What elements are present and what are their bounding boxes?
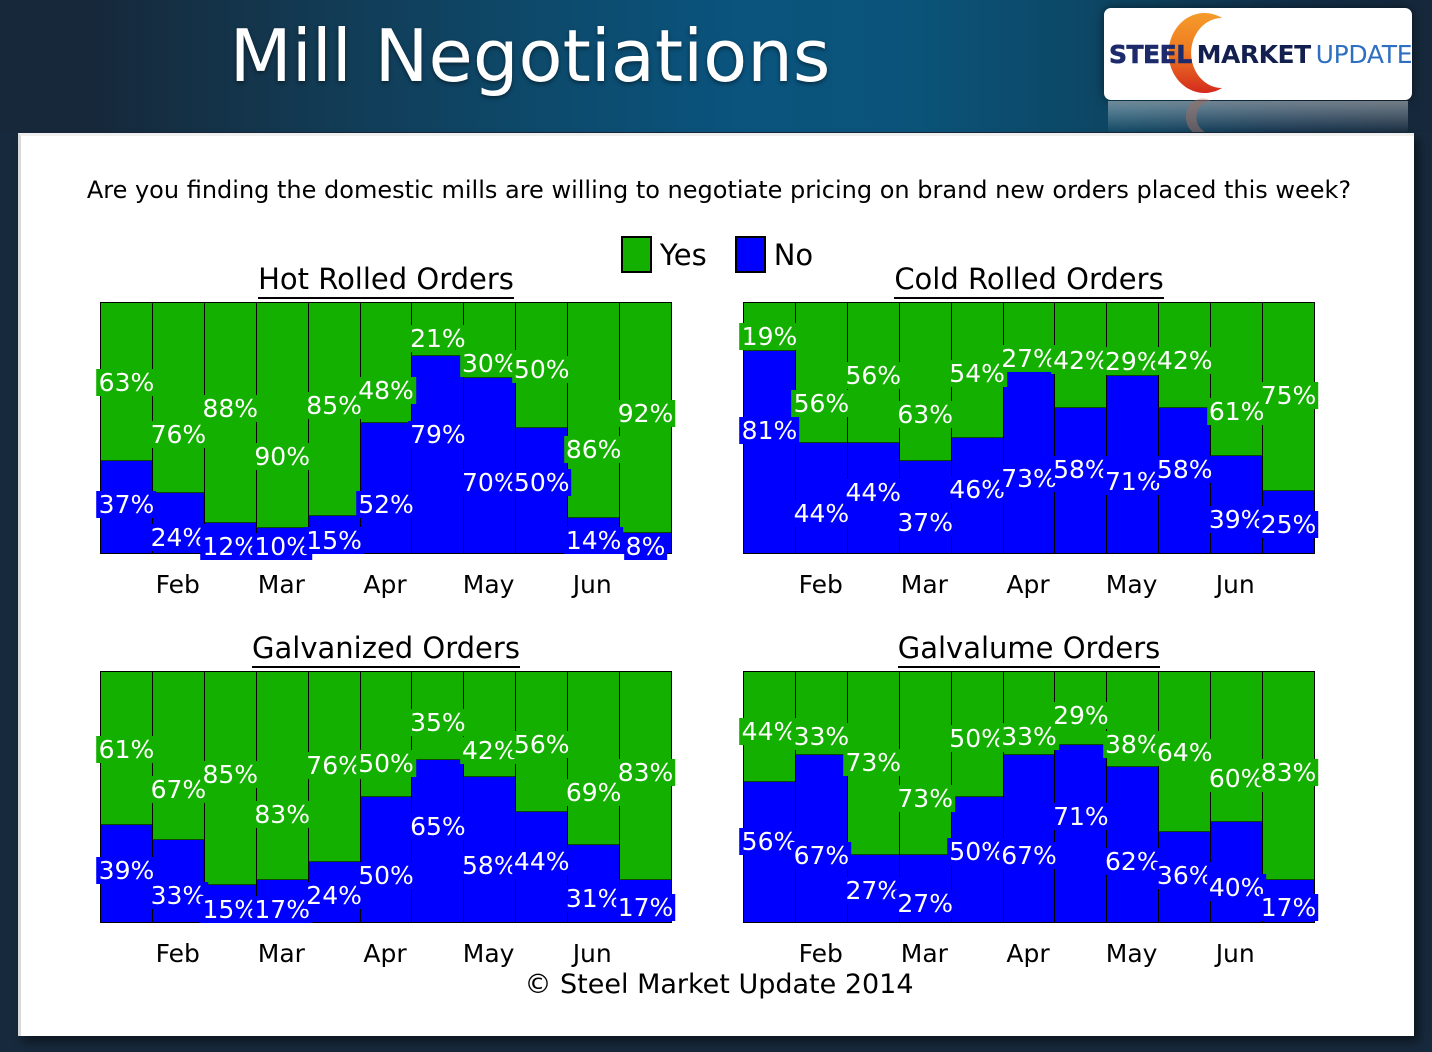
bar-value-label-no: 46% bbox=[947, 476, 1007, 503]
bar-column[interactable]: 64%36% bbox=[1159, 672, 1211, 922]
bar-value-label-yes: 64% bbox=[1155, 739, 1215, 766]
bar-value-label-yes: 56% bbox=[792, 390, 852, 417]
bar-segment-yes[interactable]: 90% bbox=[257, 303, 308, 528]
bar-value-label-no: 40% bbox=[1207, 874, 1267, 901]
x-axis-tick bbox=[515, 939, 567, 968]
bar-value-label-yes: 29% bbox=[1103, 348, 1163, 375]
bar-column[interactable]: 27%73% bbox=[1004, 303, 1056, 553]
bar-value-label-no: 56% bbox=[740, 828, 800, 855]
x-axis-tick bbox=[411, 570, 463, 599]
bar-segment-yes[interactable]: 83% bbox=[1263, 672, 1314, 880]
x-axis-tick bbox=[411, 939, 463, 968]
bar-value-label-yes: 56% bbox=[843, 362, 903, 389]
x-axis-tick: May bbox=[463, 570, 515, 599]
x-axis-tick bbox=[1158, 570, 1210, 599]
bar-value-label-no: 37% bbox=[97, 491, 157, 518]
x-axis-tick: Jun bbox=[566, 939, 618, 968]
bar-value-label-yes: 33% bbox=[792, 723, 852, 750]
bar-value-label-yes: 50% bbox=[356, 750, 416, 777]
bar-column[interactable]: 33%67% bbox=[796, 672, 848, 922]
bar-segment-yes[interactable]: 38% bbox=[1107, 672, 1158, 767]
bar-column[interactable]: 50%50% bbox=[516, 303, 568, 553]
bar-column[interactable]: 44%56% bbox=[744, 672, 796, 922]
bar-value-label-no: 50% bbox=[512, 469, 572, 496]
bar-segment-no[interactable]: 79% bbox=[412, 356, 463, 554]
bar-segment-yes[interactable]: 29% bbox=[1107, 303, 1158, 376]
bar-segment-no[interactable]: 8% bbox=[620, 533, 671, 553]
bar-segment-yes[interactable]: 42% bbox=[1055, 303, 1106, 408]
bar-segment-yes[interactable]: 61% bbox=[101, 672, 152, 825]
x-axis-tick: Mar bbox=[255, 939, 307, 968]
x-axis-tick: Jun bbox=[1209, 570, 1261, 599]
bar-segment-no[interactable]: 24% bbox=[309, 862, 360, 922]
bar-column[interactable]: 19%81% bbox=[744, 303, 796, 553]
bar-column[interactable]: 63%37% bbox=[900, 303, 952, 553]
x-axis-tick bbox=[515, 570, 567, 599]
bar-segment-no[interactable]: 14% bbox=[568, 518, 619, 553]
bar-value-label-no: 79% bbox=[408, 421, 468, 448]
bar-segment-no[interactable]: 65% bbox=[412, 760, 463, 923]
bar-value-label-yes: 42% bbox=[1051, 347, 1111, 374]
plot-area: 44%56%33%67%73%27%73%27%50%50%33%67%29%7… bbox=[743, 671, 1315, 923]
bar-segment-yes[interactable]: 35% bbox=[412, 672, 463, 760]
bar-column[interactable]: 33%67% bbox=[1004, 672, 1056, 922]
bar-value-label-yes: 85% bbox=[200, 761, 260, 788]
x-axis-tick: Feb bbox=[795, 570, 847, 599]
x-axis-tick bbox=[307, 570, 359, 599]
bar-value-label-yes: 60% bbox=[1207, 765, 1267, 792]
x-axis-tick: Feb bbox=[152, 939, 204, 968]
bar-segment-yes[interactable]: 42% bbox=[464, 672, 515, 777]
bar-segment-no[interactable]: 58% bbox=[1055, 408, 1106, 553]
bar-segment-no[interactable]: 58% bbox=[1159, 408, 1210, 553]
bar-segment-no[interactable]: 17% bbox=[257, 880, 308, 923]
chart-title: Hot Rolled Orders bbox=[66, 262, 706, 296]
bar-value-label-yes: 63% bbox=[895, 401, 955, 428]
x-axis-tick bbox=[204, 570, 256, 599]
bar-segment-no[interactable]: 73% bbox=[1004, 371, 1055, 554]
bar-column[interactable]: 61%39% bbox=[1211, 303, 1263, 553]
bar-column[interactable]: 50%50% bbox=[952, 672, 1004, 922]
page-title: Mill Negotiations bbox=[0, 14, 1060, 98]
bar-value-label-yes: 44% bbox=[740, 718, 800, 745]
bar-column[interactable]: 50%50% bbox=[361, 672, 413, 922]
slide-header: Mill Negotiations STEEL MARKET UPDATE bbox=[0, 0, 1432, 132]
x-axis-tick bbox=[950, 939, 1002, 968]
bar-value-label-yes: 50% bbox=[947, 725, 1007, 752]
bar-value-label-yes: 63% bbox=[97, 369, 157, 396]
bar-segment-yes[interactable]: 19% bbox=[744, 303, 795, 351]
bar-value-label-no: 15% bbox=[304, 527, 364, 554]
bar-value-label-yes: 19% bbox=[740, 323, 800, 350]
bar-column[interactable]: 56%44% bbox=[796, 303, 848, 553]
bar-value-label-no: 24% bbox=[304, 882, 364, 909]
bar-segment-yes[interactable]: 83% bbox=[257, 672, 308, 880]
bar-value-label-no: 25% bbox=[1259, 511, 1319, 538]
bar-segment-no[interactable]: 44% bbox=[796, 443, 847, 553]
x-axis-tick: May bbox=[1106, 570, 1158, 599]
bar-segment-yes[interactable]: 92% bbox=[620, 303, 671, 533]
survey-question: Are you finding the domestic mills are w… bbox=[21, 176, 1417, 204]
chart-galvalume-orders: Galvalume Orders 44%56%33%67%73%27%73%27… bbox=[709, 631, 1349, 951]
bar-segment-no[interactable]: 33% bbox=[153, 840, 204, 923]
bar-segment-yes[interactable]: 63% bbox=[101, 303, 152, 461]
bar-segment-yes[interactable]: 85% bbox=[205, 672, 256, 885]
x-axis-tick bbox=[743, 939, 795, 968]
logo-reflection bbox=[1108, 101, 1408, 132]
bar-segment-no[interactable]: 81% bbox=[744, 351, 795, 554]
bar-column[interactable]: 29%71% bbox=[1055, 672, 1107, 922]
bar-segment-no[interactable]: 15% bbox=[205, 885, 256, 923]
bar-column[interactable]: 76%24% bbox=[153, 303, 205, 553]
bar-segment-yes[interactable]: 21% bbox=[412, 303, 463, 356]
bar-value-label-no: 15% bbox=[200, 896, 260, 923]
bar-value-label-yes: 61% bbox=[97, 736, 157, 763]
bar-segment-no[interactable]: 62% bbox=[1107, 767, 1158, 922]
bar-segment-no[interactable]: 27% bbox=[900, 855, 951, 923]
bar-segment-yes[interactable]: 56% bbox=[848, 303, 899, 443]
bar-value-label-yes: 50% bbox=[512, 356, 572, 383]
x-axis-tick bbox=[307, 939, 359, 968]
bar-segment-yes[interactable]: 42% bbox=[1159, 303, 1210, 408]
bar-value-label-no: 27% bbox=[895, 890, 955, 917]
x-axis: FebMarAprMayJun bbox=[743, 570, 1313, 599]
bar-segment-no[interactable]: 44% bbox=[516, 812, 567, 922]
bar-segment-yes[interactable]: 75% bbox=[1263, 303, 1314, 491]
bar-column[interactable]: 69%31% bbox=[568, 672, 620, 922]
bar-segment-yes[interactable]: 61% bbox=[1211, 303, 1262, 456]
bar-value-label-no: 17% bbox=[1259, 894, 1319, 921]
slide-body: Are you finding the domestic mills are w… bbox=[18, 133, 1414, 1036]
bar-segment-yes[interactable]: 27% bbox=[1004, 303, 1055, 371]
bar-segment-yes[interactable]: 33% bbox=[1004, 672, 1055, 755]
bar-segment-yes[interactable]: 56% bbox=[796, 303, 847, 443]
x-axis-tick bbox=[1054, 939, 1106, 968]
x-axis-tick bbox=[100, 939, 152, 968]
bar-value-label-no: 44% bbox=[512, 848, 572, 875]
bar-column[interactable]: 56%44% bbox=[516, 672, 568, 922]
x-axis-tick: Jun bbox=[566, 570, 618, 599]
bar-value-label-no: 17% bbox=[616, 894, 676, 921]
bar-column[interactable]: 42%58% bbox=[464, 672, 516, 922]
brand-logo[interactable]: STEEL MARKET UPDATE bbox=[1104, 8, 1412, 132]
x-axis-tick bbox=[847, 939, 899, 968]
bar-segment-yes[interactable]: 33% bbox=[796, 672, 847, 755]
bar-value-label-yes: 92% bbox=[616, 400, 676, 427]
bar-value-label-no: 39% bbox=[1207, 506, 1267, 533]
bar-column[interactable]: 38%62% bbox=[1107, 672, 1159, 922]
bar-column[interactable]: 73%27% bbox=[900, 672, 952, 922]
bar-column[interactable]: 35%65% bbox=[412, 672, 464, 922]
x-axis-tick: Jun bbox=[1209, 939, 1261, 968]
bar-value-label-no: 8% bbox=[624, 533, 668, 560]
bar-value-label-no: 33% bbox=[149, 882, 209, 909]
logo-card: STEEL MARKET UPDATE bbox=[1104, 8, 1412, 100]
bar-segment-no[interactable]: 15% bbox=[309, 516, 360, 554]
bar-column[interactable]: 92%8% bbox=[620, 303, 671, 553]
bar-value-label-yes: 33% bbox=[999, 723, 1059, 750]
bar-column[interactable]: 73%27% bbox=[848, 672, 900, 922]
bar-value-label-yes: 42% bbox=[460, 737, 520, 764]
bar-value-label-no: 52% bbox=[356, 491, 416, 518]
bar-value-label-no: 58% bbox=[1051, 456, 1111, 483]
x-axis-tick: May bbox=[1106, 939, 1158, 968]
logo-word-market: MARKET bbox=[1197, 40, 1311, 69]
x-axis-tick bbox=[204, 939, 256, 968]
logo-wordmark: STEEL MARKET UPDATE bbox=[1104, 8, 1412, 100]
bar-value-label-no: 58% bbox=[460, 852, 520, 879]
bar-value-label-no: 44% bbox=[843, 479, 903, 506]
bar-segment-no[interactable]: 44% bbox=[848, 443, 899, 553]
bar-segment-no[interactable]: 10% bbox=[257, 528, 308, 553]
bar-value-label-yes: 29% bbox=[1051, 702, 1111, 729]
bar-column[interactable]: 85%15% bbox=[309, 303, 361, 553]
x-axis-tick bbox=[847, 570, 899, 599]
plot-area: 61%39%67%33%85%15%83%17%76%24%50%50%35%6… bbox=[100, 671, 672, 923]
bar-column[interactable]: 42%58% bbox=[1055, 303, 1107, 553]
bar-segment-yes[interactable]: 29% bbox=[1055, 672, 1106, 745]
x-axis-tick: Apr bbox=[1002, 570, 1054, 599]
x-axis-tick bbox=[743, 570, 795, 599]
bar-value-label-yes: 73% bbox=[895, 785, 955, 812]
x-axis-tick: Apr bbox=[359, 570, 411, 599]
bar-segment-yes[interactable]: 85% bbox=[309, 303, 360, 516]
bar-column[interactable]: 56%44% bbox=[848, 303, 900, 553]
bar-segment-yes[interactable]: 50% bbox=[361, 672, 412, 797]
bar-value-label-yes: 54% bbox=[947, 360, 1007, 387]
plot-area: 63%37%76%24%88%12%90%10%85%15%48%52%21%7… bbox=[100, 302, 672, 554]
bar-value-label-yes: 69% bbox=[564, 779, 624, 806]
bar-column[interactable]: 83%17% bbox=[257, 672, 309, 922]
bar-segment-no[interactable]: 40% bbox=[1211, 822, 1262, 922]
bar-column[interactable]: 42%58% bbox=[1159, 303, 1211, 553]
bar-value-label-no: 71% bbox=[1103, 468, 1163, 495]
bar-value-label-yes: 67% bbox=[149, 776, 209, 803]
x-axis-tick: Apr bbox=[1002, 939, 1054, 968]
bar-segment-yes[interactable]: 88% bbox=[205, 303, 256, 523]
bar-segment-yes[interactable]: 64% bbox=[1159, 672, 1210, 832]
bar-column[interactable]: 67%33% bbox=[153, 672, 205, 922]
bar-value-label-yes: 83% bbox=[616, 759, 676, 786]
bar-value-label-no: 24% bbox=[149, 524, 209, 551]
x-axis: FebMarAprMayJun bbox=[100, 939, 670, 968]
bar-value-label-no: 44% bbox=[792, 500, 852, 527]
chart-galvanized-orders: Galvanized Orders 61%39%67%33%85%15%83%1… bbox=[66, 631, 706, 951]
bar-segment-yes[interactable]: 86% bbox=[568, 303, 619, 518]
x-axis-tick bbox=[1158, 939, 1210, 968]
logo-word-steel: STEEL bbox=[1109, 40, 1192, 69]
bar-segment-no[interactable]: 27% bbox=[848, 855, 899, 923]
bar-value-label-no: 58% bbox=[1155, 456, 1215, 483]
bar-segment-yes[interactable]: 67% bbox=[153, 672, 204, 840]
bar-segment-yes[interactable]: 50% bbox=[516, 303, 567, 428]
x-axis-tick: Mar bbox=[898, 570, 950, 599]
bar-value-label-no: 73% bbox=[999, 465, 1059, 492]
x-axis-tick: May bbox=[463, 939, 515, 968]
bar-value-label-yes: 38% bbox=[1103, 731, 1163, 758]
x-axis-tick bbox=[618, 939, 670, 968]
bar-value-label-no: 14% bbox=[564, 527, 624, 554]
x-axis-tick: Apr bbox=[359, 939, 411, 968]
bar-value-label-yes: 56% bbox=[512, 731, 572, 758]
x-axis: FebMarAprMayJun bbox=[743, 939, 1313, 968]
x-axis-tick bbox=[950, 570, 1002, 599]
bar-value-label-yes: 90% bbox=[252, 443, 312, 470]
bar-column[interactable]: 48%52% bbox=[361, 303, 413, 553]
bar-segment-yes[interactable]: 30% bbox=[464, 303, 515, 378]
bar-column[interactable]: 29%71% bbox=[1107, 303, 1159, 553]
copyright-footer: © Steel Market Update 2014 bbox=[21, 969, 1417, 1000]
bar-value-label-yes: 21% bbox=[408, 325, 468, 352]
bar-segment-no[interactable]: 39% bbox=[101, 825, 152, 923]
bar-column[interactable]: 21%79% bbox=[412, 303, 464, 553]
bar-segment-yes[interactable]: 54% bbox=[952, 303, 1003, 438]
bar-value-label-yes: 83% bbox=[1259, 759, 1319, 786]
bar-segment-no[interactable]: 71% bbox=[1055, 745, 1106, 923]
bar-value-label-yes: 48% bbox=[356, 377, 416, 404]
chart-hot-rolled-orders: Hot Rolled Orders 63%37%76%24%88%12%90%1… bbox=[66, 262, 706, 582]
bar-value-label-no: 37% bbox=[895, 509, 955, 536]
bar-value-label-no: 71% bbox=[1051, 803, 1111, 830]
chart-title: Galvalume Orders bbox=[709, 631, 1349, 665]
x-axis-tick bbox=[1054, 570, 1106, 599]
bar-segment-no[interactable]: 46% bbox=[952, 438, 1003, 553]
bar-segment-no[interactable]: 17% bbox=[620, 880, 671, 923]
bar-segment-no[interactable]: 36% bbox=[1159, 832, 1210, 922]
x-axis-tick: Feb bbox=[795, 939, 847, 968]
bar-segment-no[interactable]: 67% bbox=[1004, 755, 1055, 923]
bar-column[interactable]: 30%70% bbox=[464, 303, 516, 553]
bar-value-label-yes: 75% bbox=[1259, 382, 1319, 409]
bar-segment-yes[interactable]: 76% bbox=[309, 672, 360, 862]
bar-segment-no[interactable]: 17% bbox=[1263, 880, 1314, 923]
bar-column[interactable]: 83%17% bbox=[620, 672, 671, 922]
bar-value-label-no: 67% bbox=[999, 842, 1059, 869]
bar-value-label-yes: 27% bbox=[999, 345, 1059, 372]
x-axis-tick: Feb bbox=[152, 570, 204, 599]
logo-word-update: UPDATE bbox=[1316, 40, 1412, 69]
bar-column[interactable]: 76%24% bbox=[309, 672, 361, 922]
bar-value-label-yes: 86% bbox=[564, 436, 624, 463]
bar-segment-no[interactable]: 50% bbox=[361, 797, 412, 922]
logo-reflection-arc-icon bbox=[1162, 97, 1240, 132]
x-axis-tick bbox=[618, 570, 670, 599]
bar-value-label-yes: 88% bbox=[200, 395, 260, 422]
bar-segment-yes[interactable]: 73% bbox=[848, 672, 899, 855]
bar-column[interactable]: 63%37% bbox=[101, 303, 153, 553]
bar-column[interactable]: 54%46% bbox=[952, 303, 1004, 553]
bar-segment-no[interactable]: 24% bbox=[153, 493, 204, 553]
bar-value-label-yes: 30% bbox=[460, 350, 520, 377]
bar-segment-no[interactable]: 50% bbox=[516, 428, 567, 553]
bar-segment-no[interactable]: 67% bbox=[796, 755, 847, 923]
bar-segment-no[interactable]: 37% bbox=[900, 461, 951, 554]
bar-column[interactable]: 86%14% bbox=[568, 303, 620, 553]
bar-value-label-yes: 83% bbox=[252, 801, 312, 828]
bar-segment-no[interactable]: 12% bbox=[205, 523, 256, 553]
bar-value-label-yes: 35% bbox=[408, 709, 468, 736]
bar-column[interactable]: 60%40% bbox=[1211, 672, 1263, 922]
bar-value-label-yes: 42% bbox=[1155, 347, 1215, 374]
bar-segment-no[interactable]: 58% bbox=[464, 777, 515, 922]
bar-column[interactable]: 90%10% bbox=[257, 303, 309, 553]
bar-segment-no[interactable]: 50% bbox=[952, 797, 1003, 922]
chart-title: Cold Rolled Orders bbox=[709, 262, 1349, 296]
bar-value-label-no: 50% bbox=[356, 862, 416, 889]
x-axis-tick bbox=[100, 570, 152, 599]
bar-value-label-no: 62% bbox=[1103, 848, 1163, 875]
x-axis-tick bbox=[1261, 939, 1313, 968]
chart-cold-rolled-orders: Cold Rolled Orders 19%81%56%44%56%44%63%… bbox=[709, 262, 1349, 582]
x-axis-tick bbox=[1261, 570, 1313, 599]
bar-segment-yes[interactable]: 44% bbox=[744, 672, 795, 782]
bar-segment-no[interactable]: 31% bbox=[568, 845, 619, 923]
bar-value-label-yes: 76% bbox=[149, 421, 209, 448]
x-axis-tick: Mar bbox=[898, 939, 950, 968]
bar-segment-yes[interactable]: 50% bbox=[952, 672, 1003, 797]
bar-segment-yes[interactable]: 63% bbox=[900, 303, 951, 461]
x-axis: FebMarAprMayJun bbox=[100, 570, 670, 599]
bar-segment-yes[interactable]: 60% bbox=[1211, 672, 1262, 822]
x-axis-tick: Mar bbox=[255, 570, 307, 599]
bar-value-label-no: 65% bbox=[408, 813, 468, 840]
bar-value-label-no: 70% bbox=[460, 469, 520, 496]
bar-segment-no[interactable]: 56% bbox=[744, 782, 795, 922]
bar-column[interactable]: 61%39% bbox=[101, 672, 153, 922]
bar-value-label-no: 36% bbox=[1155, 862, 1215, 889]
bar-segment-yes[interactable]: 73% bbox=[900, 672, 951, 855]
bar-segment-no[interactable]: 52% bbox=[361, 423, 412, 553]
bar-segment-no[interactable]: 39% bbox=[1211, 456, 1262, 554]
bar-column[interactable]: 83%17% bbox=[1263, 672, 1314, 922]
bar-segment-no[interactable]: 70% bbox=[464, 378, 515, 553]
bar-segment-no[interactable]: 37% bbox=[101, 461, 152, 554]
bar-segment-yes[interactable]: 83% bbox=[620, 672, 671, 880]
bar-segment-no[interactable]: 71% bbox=[1107, 376, 1158, 554]
bar-value-label-no: 81% bbox=[740, 417, 800, 444]
bar-value-label-no: 17% bbox=[252, 896, 312, 923]
bar-column[interactable]: 85%15% bbox=[205, 672, 257, 922]
bar-segment-yes[interactable]: 48% bbox=[361, 303, 412, 423]
bar-value-label-no: 39% bbox=[97, 857, 157, 884]
chart-title: Galvanized Orders bbox=[66, 631, 706, 665]
bar-value-label-no: 67% bbox=[792, 842, 852, 869]
bar-value-label-no: 27% bbox=[843, 877, 903, 904]
bar-column[interactable]: 88%12% bbox=[205, 303, 257, 553]
bar-segment-yes[interactable]: 69% bbox=[568, 672, 619, 845]
bar-value-label-yes: 76% bbox=[304, 752, 364, 779]
plot-area: 19%81%56%44%56%44%63%37%54%46%27%73%42%5… bbox=[743, 302, 1315, 554]
bar-value-label-no: 31% bbox=[564, 885, 624, 912]
bar-segment-yes[interactable]: 76% bbox=[153, 303, 204, 493]
bar-value-label-yes: 73% bbox=[843, 749, 903, 776]
bar-segment-no[interactable]: 25% bbox=[1263, 491, 1314, 554]
bar-value-label-no: 10% bbox=[252, 533, 312, 560]
bar-value-label-no: 12% bbox=[200, 533, 260, 560]
bar-value-label-yes: 85% bbox=[304, 392, 364, 419]
bar-segment-yes[interactable]: 56% bbox=[516, 672, 567, 812]
bar-value-label-no: 50% bbox=[947, 838, 1007, 865]
bar-column[interactable]: 75%25% bbox=[1263, 303, 1314, 553]
bar-value-label-yes: 61% bbox=[1207, 398, 1267, 425]
